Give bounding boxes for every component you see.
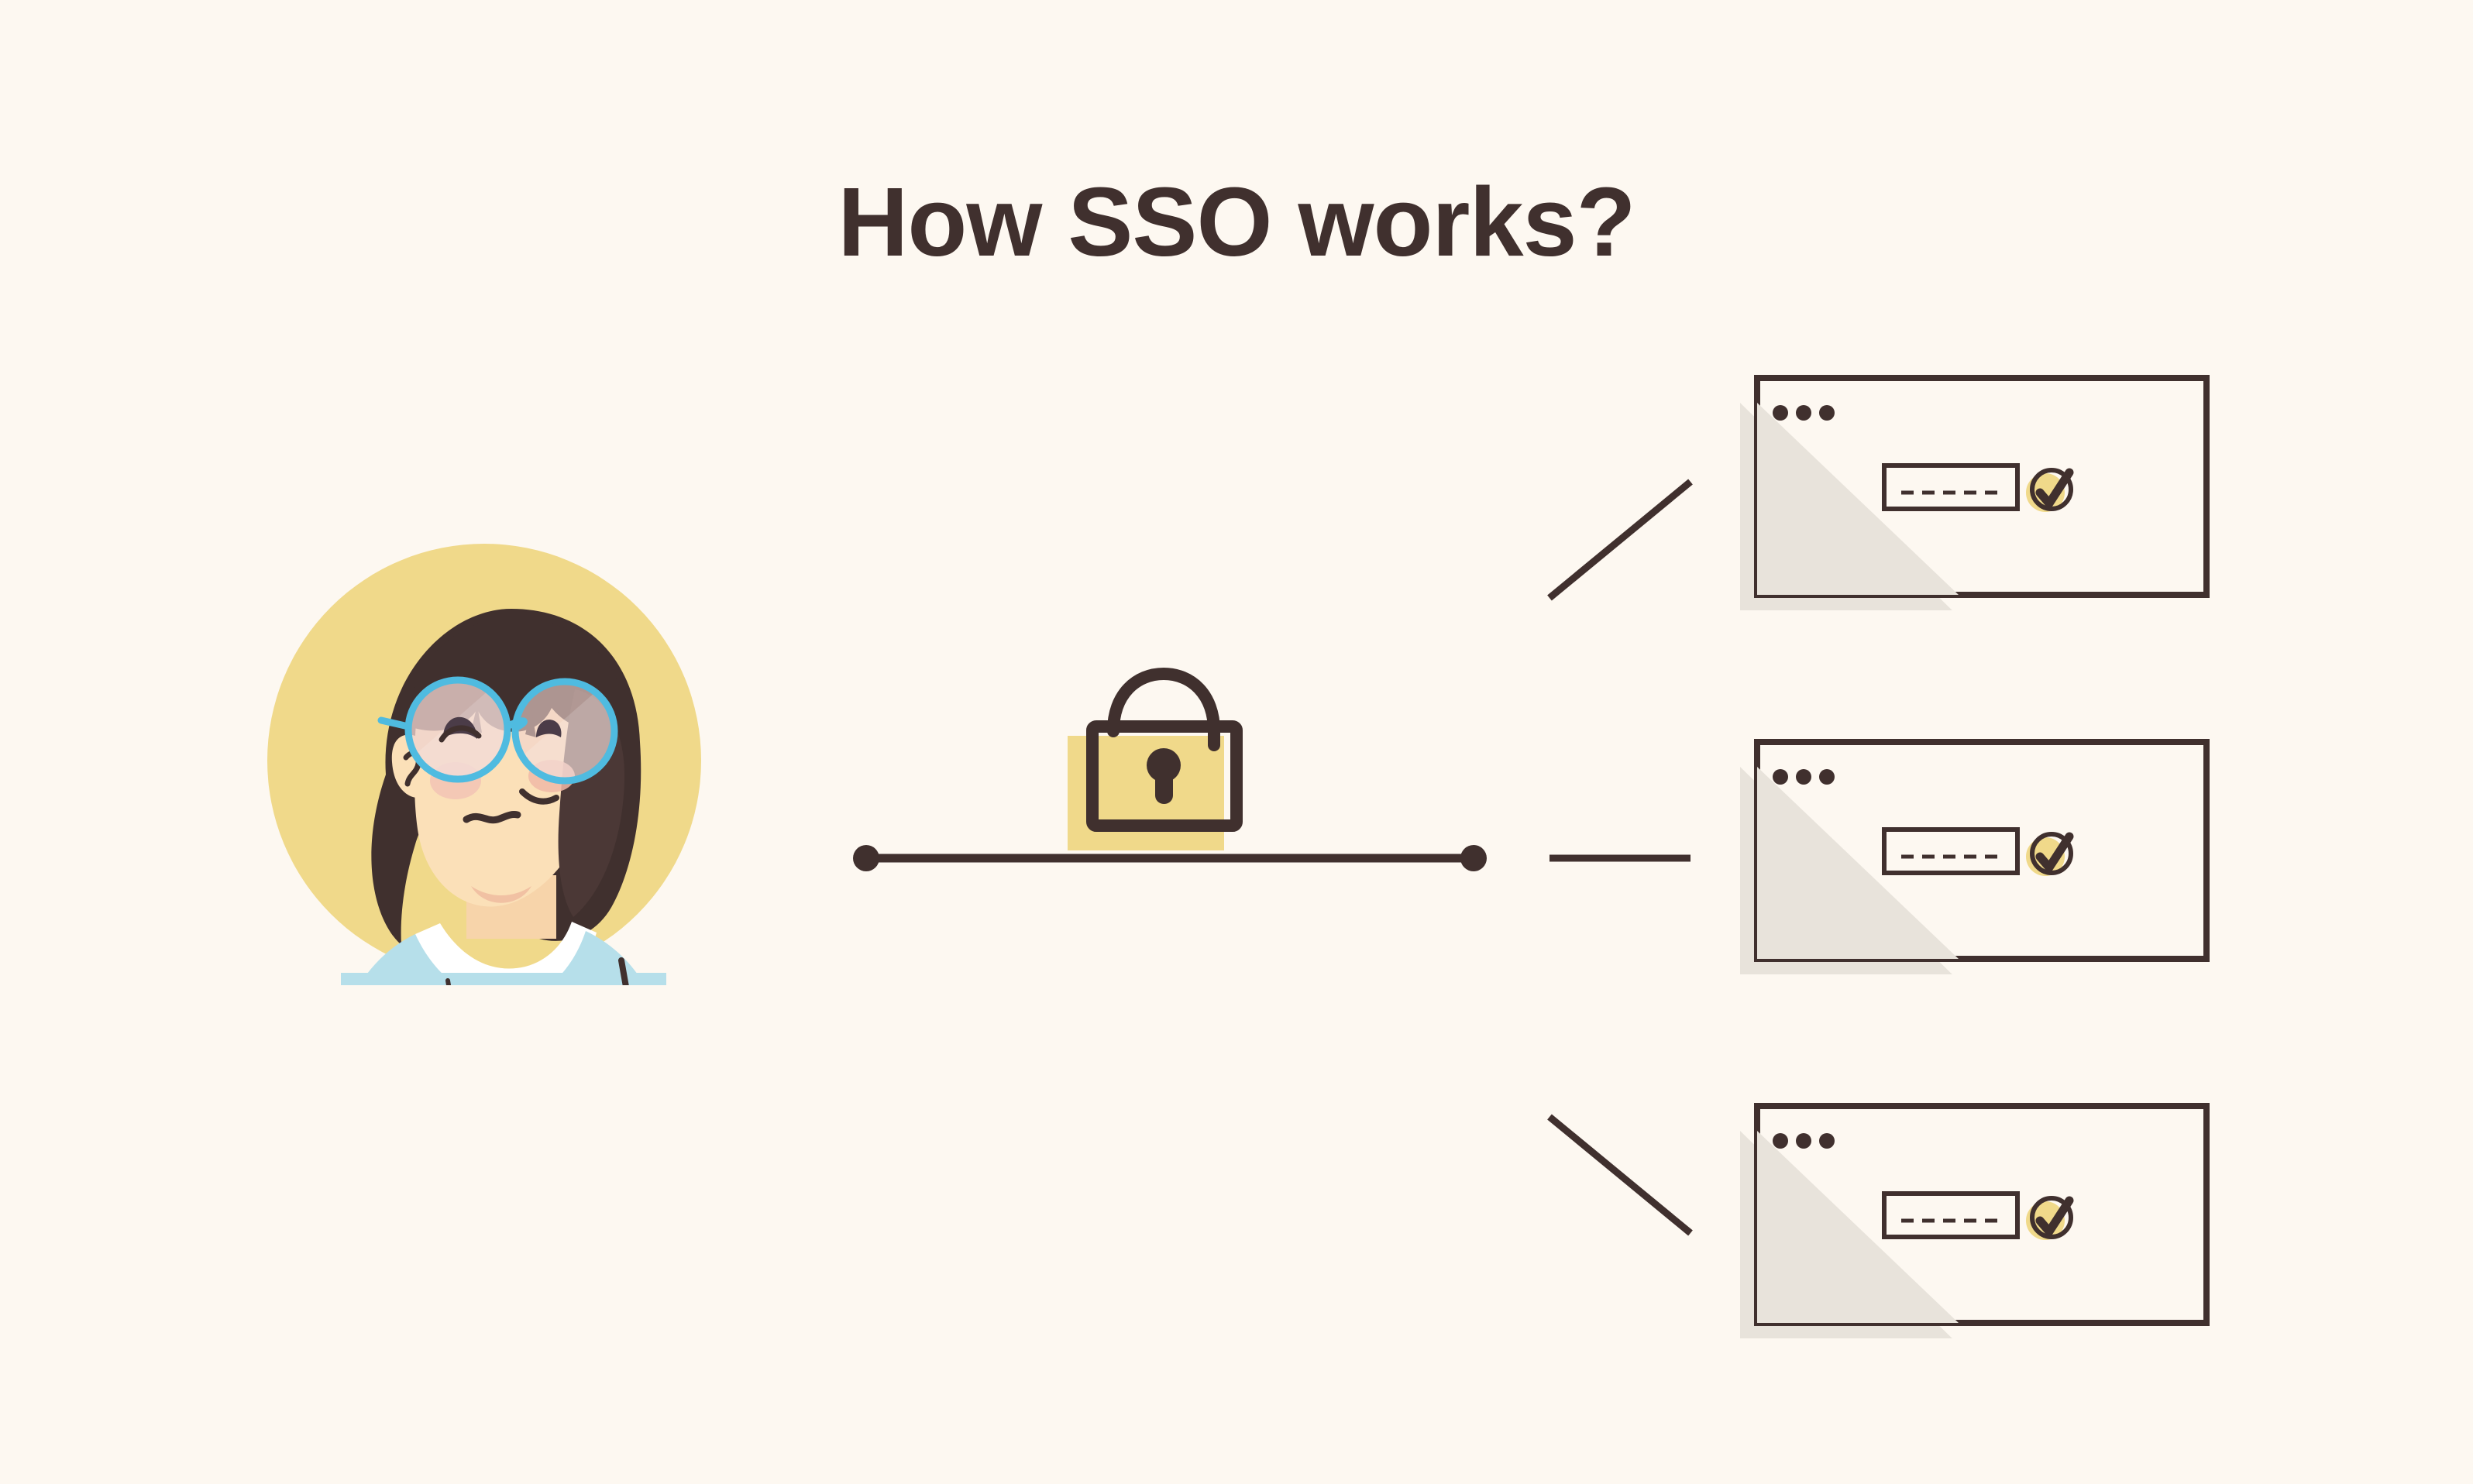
- sso-endpoint-right: [1460, 845, 1487, 871]
- avatar-shirt-body: [341, 973, 666, 985]
- lock-keyhole-stem: [1155, 768, 1173, 804]
- service-window-1[interactable]: [1726, 370, 2222, 610]
- avatar-shirt-fold-mark: [448, 981, 449, 985]
- page-title-text: How SSO works?: [838, 164, 1635, 280]
- lock-shackle: [1113, 674, 1214, 745]
- card-dot-1: [1773, 1133, 1788, 1149]
- card-dot-3: [1819, 1133, 1835, 1149]
- card-dot-1: [1773, 405, 1788, 421]
- sso-link: [844, 651, 1495, 883]
- branch-top: [1549, 482, 1691, 598]
- avatar-glasses-bridge: [507, 721, 524, 728]
- card-dot-2: [1796, 1133, 1811, 1149]
- card-dot-3: [1819, 405, 1835, 421]
- card-dot-2: [1796, 769, 1811, 785]
- branch-bottom: [1549, 1117, 1691, 1233]
- card-dot-2: [1796, 405, 1811, 421]
- illustration-canvas: How SSO works?: [0, 0, 2473, 1484]
- card-dot-3: [1819, 769, 1835, 785]
- sso-endpoint-left: [853, 845, 879, 871]
- card-dot-1: [1773, 769, 1788, 785]
- service-window-2[interactable]: [1726, 734, 2222, 974]
- user-avatar: [263, 542, 713, 985]
- service-window-3[interactable]: [1726, 1098, 2222, 1338]
- branch-connectors: [1542, 449, 1743, 1301]
- page-title: How SSO works?: [0, 164, 2473, 280]
